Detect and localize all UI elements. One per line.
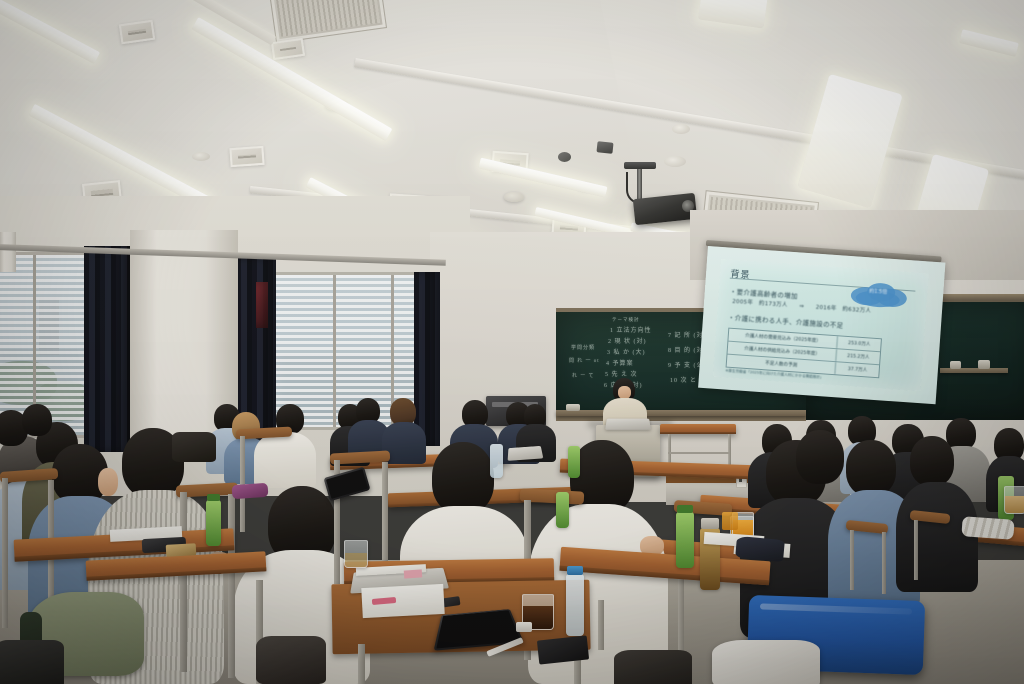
attendee-body-rf3 (896, 482, 978, 592)
water-bottle-mid[interactable] (490, 444, 503, 478)
attendee-head-rf2 (846, 440, 896, 496)
presentation-slide: 背景 約1.5倍 ・要介護高齢者の増加 2005年 約173万人 ⇒ 2016年… (713, 259, 929, 391)
projection-screen: 背景 約1.5倍 ・要介護高齢者の増加 2005年 約173万人 ⇒ 2016年… (698, 246, 945, 404)
attendee-head-lb2 (22, 404, 52, 436)
desk-right-leg-1 (598, 600, 604, 650)
side-table (660, 424, 736, 434)
blackboard-eraser-3 (566, 404, 580, 411)
chalk-line-2: 2 現 状 (対) (608, 336, 647, 345)
attendee-head-rf3 (910, 436, 954, 486)
white-bag (712, 640, 820, 684)
chalk-header: テーマ検討 (612, 317, 640, 323)
desk-foreground-leg-1 (358, 644, 365, 684)
side-table-crossbar (668, 452, 730, 454)
drink-cup-far-right[interactable] (1004, 486, 1024, 514)
green-tea-bottle-mid[interactable] (568, 446, 580, 478)
chalk-annotation-1: 学問分類 (571, 344, 595, 351)
green-tea-cap-left (207, 494, 220, 501)
ceiling-vent-small-3 (229, 146, 264, 167)
projector-ceiling-plate (624, 162, 656, 169)
laptop-back-row[interactable] (508, 446, 544, 461)
curtain-left (84, 246, 130, 452)
bento-box (166, 543, 197, 557)
green-tea-cap-right (677, 505, 693, 513)
chair-post-f1 (180, 492, 187, 672)
curtain-right (414, 272, 440, 446)
pencil-case-purple[interactable] (232, 483, 269, 499)
attendee-head-cf4 (796, 430, 844, 484)
ceiling-sensor-box-1 (596, 141, 613, 154)
smoke-detector-1 (192, 152, 210, 161)
bag-right-floor (614, 650, 692, 684)
orange-juice-cup-mid-right[interactable] (722, 512, 738, 530)
wall-pillar-right (0, 232, 16, 272)
chalk-annotation-2: 問 れ 一 ot (569, 357, 600, 364)
bag-under-desk (256, 636, 326, 684)
classroom-photo: テーマ検討 1 立法方向性 2 現 状 (対) 3 私 か (大) 4 予算案 … (0, 0, 1024, 684)
water-bottle-cap (567, 566, 583, 575)
chalk-line-1: 1 立法方向性 (610, 325, 652, 334)
chair-post-f2 (228, 494, 235, 678)
blackboard-eraser-1 (950, 361, 961, 369)
chalk-line-4: 4 予算案 (606, 358, 634, 367)
green-tea-bottle-left[interactable] (206, 500, 221, 546)
chalk-line-3: 3 私 か (大) (607, 347, 646, 356)
green-tea-bottle-right-front[interactable] (676, 512, 694, 568)
water-bottle-foreground[interactable] (566, 574, 584, 636)
ceiling-speaker-2 (504, 192, 524, 202)
attendee-hand-lf3 (98, 468, 118, 496)
smoke-detector-2 (672, 124, 690, 134)
presenter-laptop (605, 419, 651, 430)
chair-post-r2 (882, 532, 886, 594)
projector-ceiling-anchor (664, 156, 686, 167)
small-white-object (516, 622, 532, 632)
chalk-line-5: 5 先 え 次 (605, 369, 638, 378)
table-cell-value: 37.7万人 (836, 363, 879, 378)
chair-post-r3 (914, 520, 918, 580)
attendee-head-cf2 (432, 442, 494, 514)
chair-post-f3 (2, 478, 8, 628)
jacket-draped (735, 536, 785, 562)
slide-bullet-2: ・介護に携わる人手、介護施設の不足 (728, 311, 844, 329)
tea-bottle-cap (701, 518, 719, 529)
rolled-towels (961, 516, 1014, 540)
bag-on-chair-left (172, 432, 216, 462)
attendee-body-b3 (254, 432, 316, 488)
pink-sticky-note (404, 569, 423, 578)
chalk-annotation-3: れ ー て (572, 372, 595, 379)
chair-post-r1 (850, 530, 854, 590)
ceiling-sensor-box-2 (558, 152, 571, 162)
chalk-tray-left (556, 410, 806, 416)
glass-left[interactable] (344, 540, 368, 568)
blackboard-eraser-2 (978, 360, 990, 369)
dark-bag-bottom-left (0, 640, 64, 684)
curtain-red-accent (256, 282, 268, 328)
green-tea-bottle-mid-2[interactable] (556, 492, 569, 528)
